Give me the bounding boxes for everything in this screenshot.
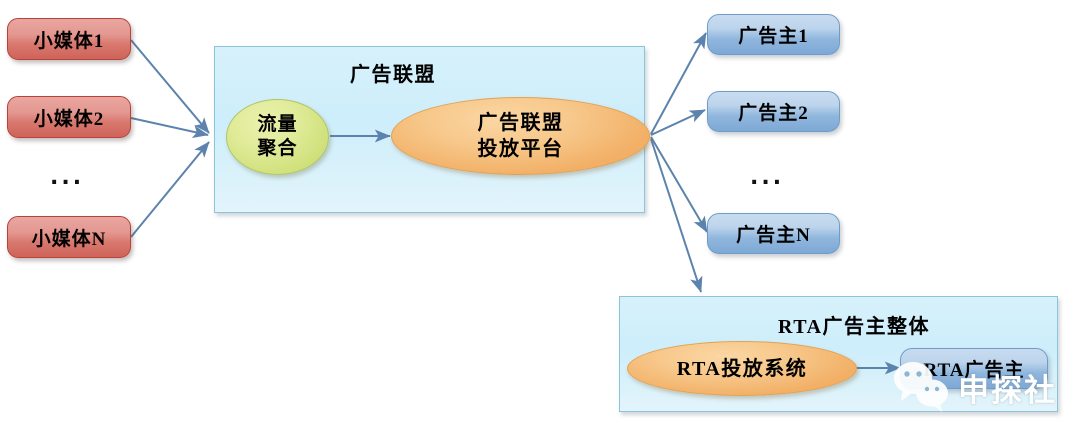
node-publisher-1-label: 小媒体1 (34, 26, 105, 53)
node-alliance-platform-line2: 投放平台 (478, 136, 564, 162)
node-publisher-n[interactable]: 小媒体N (7, 216, 131, 258)
node-rta-advertiser[interactable]: RTA广告主 (900, 348, 1048, 389)
node-advertiser-n[interactable]: 广告主N (707, 213, 840, 254)
node-alliance-platform[interactable]: 广告联盟 投放平台 (391, 97, 650, 175)
node-traffic-aggregation-line2: 聚合 (257, 137, 297, 161)
node-publisher-n-label: 小媒体N (32, 224, 107, 251)
diagram-canvas: 小媒体1 小媒体2 ... 小媒体N 广告联盟 流量 聚合 广告联盟 投放平台 … (0, 0, 1080, 432)
advertisers-ellipsis: ... (750, 165, 784, 190)
node-publisher-2-label: 小媒体2 (34, 104, 105, 131)
node-advertiser-2-label: 广告主2 (738, 98, 809, 125)
node-advertiser-2[interactable]: 广告主2 (707, 91, 840, 132)
publishers-ellipsis: ... (50, 165, 84, 190)
arrows-platform-to-advertisers (651, 33, 707, 292)
arrows-publishers-to-traffic (131, 40, 209, 237)
container-ad-alliance-title: 广告联盟 (350, 58, 436, 87)
node-publisher-2[interactable]: 小媒体2 (7, 96, 131, 138)
node-traffic-aggregation[interactable]: 流量 聚合 (226, 99, 329, 175)
node-rta-system[interactable]: RTA投放系统 (627, 341, 857, 396)
node-publisher-1[interactable]: 小媒体1 (7, 18, 131, 60)
node-advertiser-1-label: 广告主1 (738, 21, 809, 48)
node-advertiser-1[interactable]: 广告主1 (707, 14, 840, 55)
node-advertiser-n-label: 广告主N (736, 220, 811, 247)
node-rta-system-label: RTA投放系统 (677, 356, 808, 382)
node-alliance-platform-line1: 广告联盟 (478, 110, 564, 136)
node-rta-advertiser-label: RTA广告主 (923, 355, 1024, 382)
node-traffic-aggregation-line1: 流量 (257, 113, 297, 137)
container-rta-advertiser-title: RTA广告主整体 (778, 310, 930, 339)
